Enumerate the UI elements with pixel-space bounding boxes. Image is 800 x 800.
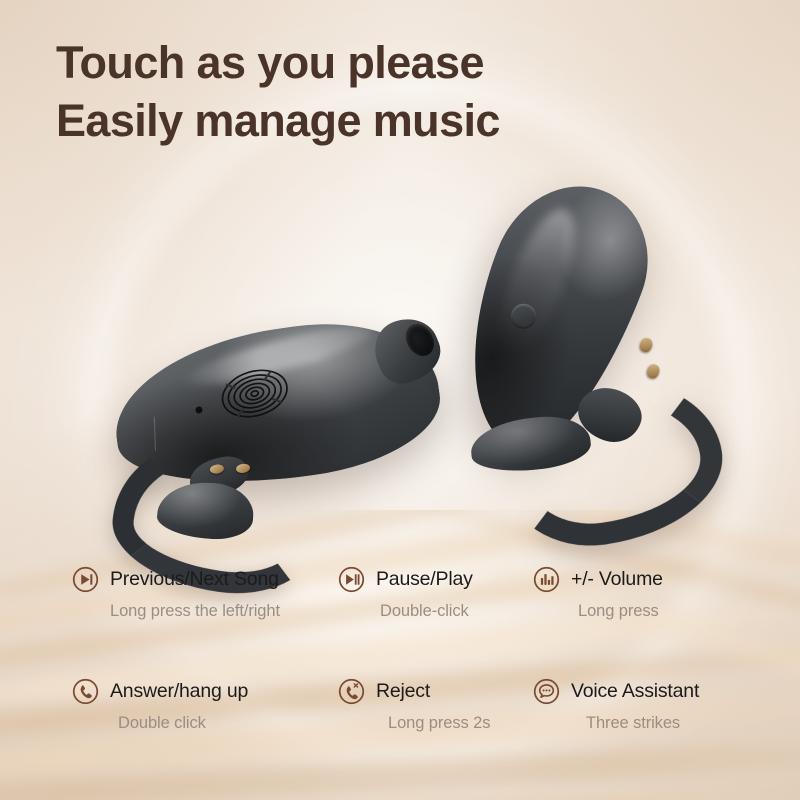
feature-subtitle: Long press 2s xyxy=(388,714,490,733)
feature-subtitle: Double click xyxy=(118,714,248,733)
feature-heading: +/- Volume xyxy=(533,566,663,593)
feature-title: Reject xyxy=(376,680,430,703)
page-title: Touch as you please Easily manage music xyxy=(56,34,500,149)
feature-subtitle: Three strikes xyxy=(586,714,699,733)
voice-assistant-icon xyxy=(533,678,560,705)
feature-row-1: Previous/Next Song Long press the left/r… xyxy=(0,566,800,678)
phone-answer-icon xyxy=(72,678,99,705)
volume-bars-icon xyxy=(533,566,560,593)
right-earbud-charging-pin xyxy=(645,363,661,380)
play-pause-icon xyxy=(338,566,365,593)
right-earbud-charging-pin xyxy=(638,336,654,353)
feature-reject[interactable]: Reject Long press 2s xyxy=(338,678,490,733)
feature-heading: Previous/Next Song xyxy=(72,566,280,593)
feature-title: +/- Volume xyxy=(571,568,663,591)
feature-title: Answer/hang up xyxy=(110,680,248,703)
feature-heading: Answer/hang up xyxy=(72,678,248,705)
feature-list: Previous/Next Song Long press the left/r… xyxy=(0,566,800,790)
feature-title: Pause/Play xyxy=(376,568,473,591)
feature-title: Previous/Next Song xyxy=(110,568,279,591)
next-track-icon xyxy=(72,566,99,593)
feature-subtitle: Long press xyxy=(578,602,663,621)
product-feature-poster: Touch as you please Easily manage music xyxy=(0,0,800,800)
feature-heading: Pause/Play xyxy=(338,566,473,593)
feature-row-2: Answer/hang up Double click Reject xyxy=(0,678,800,790)
feature-title: Voice Assistant xyxy=(571,680,699,703)
feature-heading: Reject xyxy=(338,678,490,705)
feature-answer-hangup[interactable]: Answer/hang up Double click xyxy=(72,678,248,733)
phone-reject-icon xyxy=(338,678,365,705)
feature-pause-play[interactable]: Pause/Play Double-click xyxy=(338,566,473,621)
feature-previous-next-song[interactable]: Previous/Next Song Long press the left/r… xyxy=(72,566,280,621)
right-earbud xyxy=(446,177,727,516)
feature-voice-assistant[interactable]: Voice Assistant Three strikes xyxy=(533,678,699,733)
feature-heading: Voice Assistant xyxy=(533,678,699,705)
feature-volume[interactable]: +/- Volume Long press xyxy=(533,566,663,621)
feature-subtitle: Double-click xyxy=(380,602,473,621)
feature-subtitle: Long press the left/right xyxy=(110,602,280,621)
